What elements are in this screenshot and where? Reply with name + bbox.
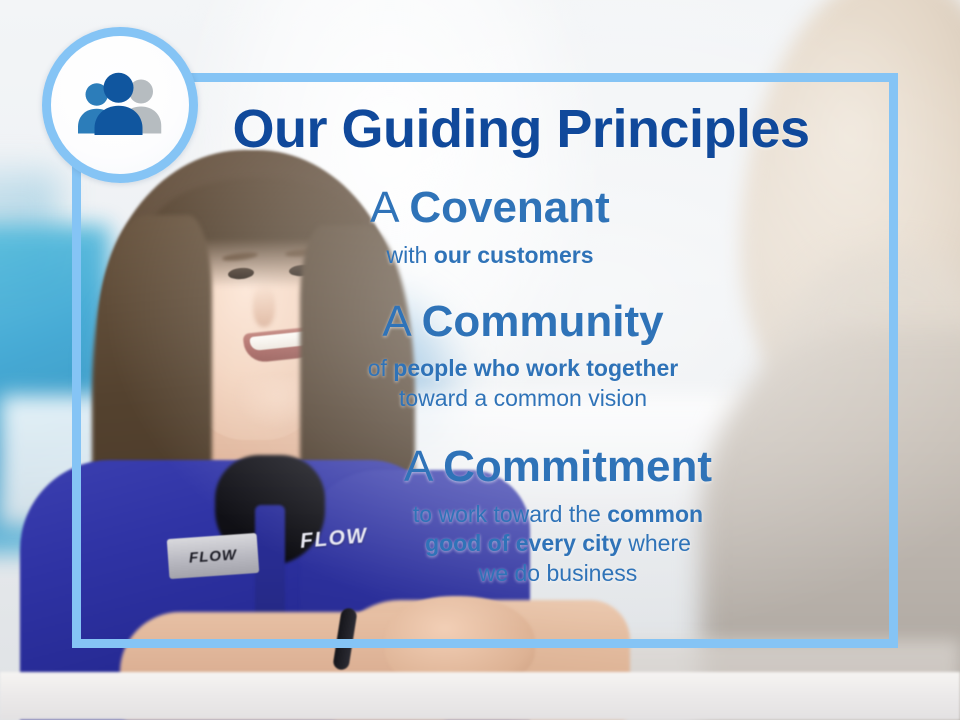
principle-article: A bbox=[404, 442, 431, 491]
detail-bold: common bbox=[607, 501, 703, 527]
principle-covenant-title: A Covenant bbox=[90, 185, 890, 232]
white-desk-surface bbox=[0, 672, 960, 720]
detail-bold-2: good of every city bbox=[425, 530, 622, 556]
principle-word: Covenant bbox=[409, 183, 609, 232]
principle-word: Commitment bbox=[443, 442, 712, 491]
detail-line-2: we do business bbox=[479, 560, 638, 586]
detail-line-2: toward a common vision bbox=[399, 385, 647, 411]
detail-plain-2: where bbox=[622, 530, 691, 556]
detail-plain: with bbox=[386, 242, 433, 268]
principle-word: Community bbox=[422, 297, 664, 346]
detail-plain: to work toward the bbox=[413, 501, 607, 527]
page-title: Our Guiding Principles bbox=[0, 98, 960, 160]
guiding-principles-graphic: FLOW FLOW Our Guiding Principles bbox=[0, 0, 960, 720]
principle-commitment-title: A Commitment bbox=[226, 444, 890, 491]
principle-article: A bbox=[370, 183, 397, 232]
detail-bold: our customers bbox=[434, 242, 594, 268]
principle-covenant: A Covenant with our customers bbox=[90, 185, 890, 271]
detail-bold: people who work together bbox=[393, 355, 678, 381]
detail-plain: of bbox=[368, 355, 394, 381]
principles-list: A Covenant with our customers A Communit… bbox=[100, 185, 890, 589]
principle-community-title: A Community bbox=[156, 299, 890, 346]
principle-community: A Community of people who work together … bbox=[156, 299, 890, 414]
principle-commitment-detail: to work toward the common good of every … bbox=[226, 500, 890, 590]
principle-article: A bbox=[382, 297, 409, 346]
principle-commitment: A Commitment to work toward the common g… bbox=[226, 444, 890, 589]
principle-community-detail: of people who work together toward a com… bbox=[156, 354, 890, 414]
principle-covenant-detail: with our customers bbox=[90, 241, 890, 271]
